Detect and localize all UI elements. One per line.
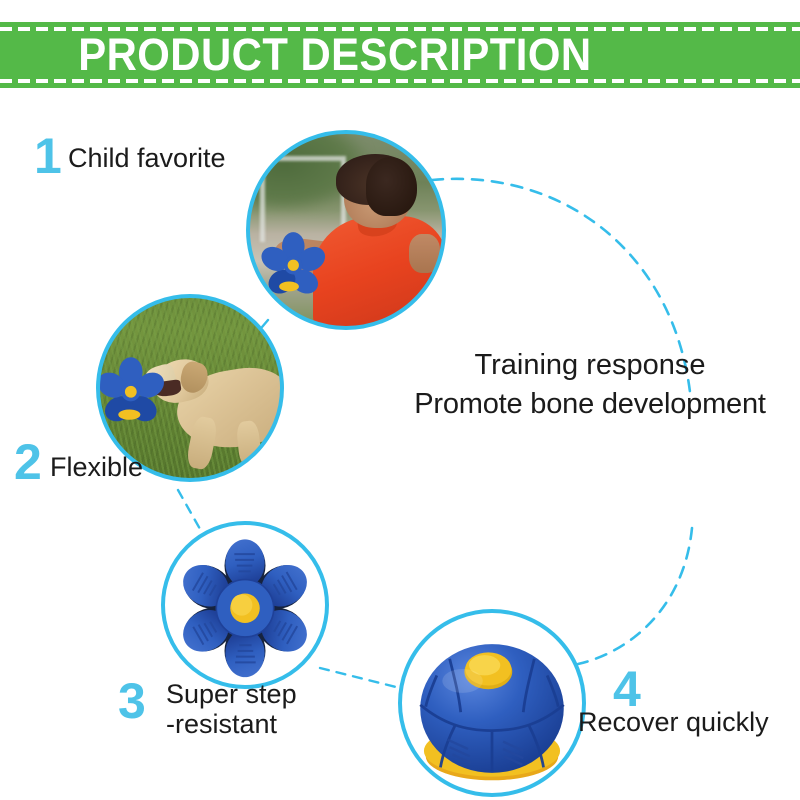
feature-image-4 [400, 611, 584, 795]
product-description-infographic: PRODUCT DESCRIPTION [0, 0, 800, 800]
boy-arm-right [409, 234, 440, 273]
feature-caption-1: Child favorite [68, 143, 226, 173]
boy-hair-curls [366, 157, 417, 216]
feature-caption-3: Super step -resistant [166, 679, 297, 739]
product-ball-dome-closed-icon [400, 611, 584, 795]
connector-arc-right-to-4 [578, 528, 692, 664]
feature-caption-3-line2: -resistant [166, 709, 297, 739]
product-disc-flat-open-icon [163, 523, 327, 687]
center-text-line-1: Training response [390, 346, 790, 385]
center-text-line-2: Promote bone development [390, 385, 790, 424]
feature-image-3 [163, 523, 327, 687]
feature-number-1: 1 [34, 131, 61, 181]
connector-3-to-4 [320, 668, 400, 688]
disc-flying-icon [98, 355, 168, 429]
header-banner: PRODUCT DESCRIPTION [0, 22, 800, 88]
center-benefit-text: Training response Promote bone developme… [390, 346, 790, 425]
feature-caption-2: Flexible [50, 452, 143, 482]
feature-number-2: 2 [14, 437, 41, 487]
feature-number-3: 3 [118, 676, 145, 726]
feature-caption-3-line1: Super step [166, 679, 297, 709]
page-title: PRODUCT DESCRIPTION [28, 22, 772, 88]
disc-in-hand-icon [258, 230, 329, 301]
feature-caption-4: Recover quickly [578, 707, 769, 737]
